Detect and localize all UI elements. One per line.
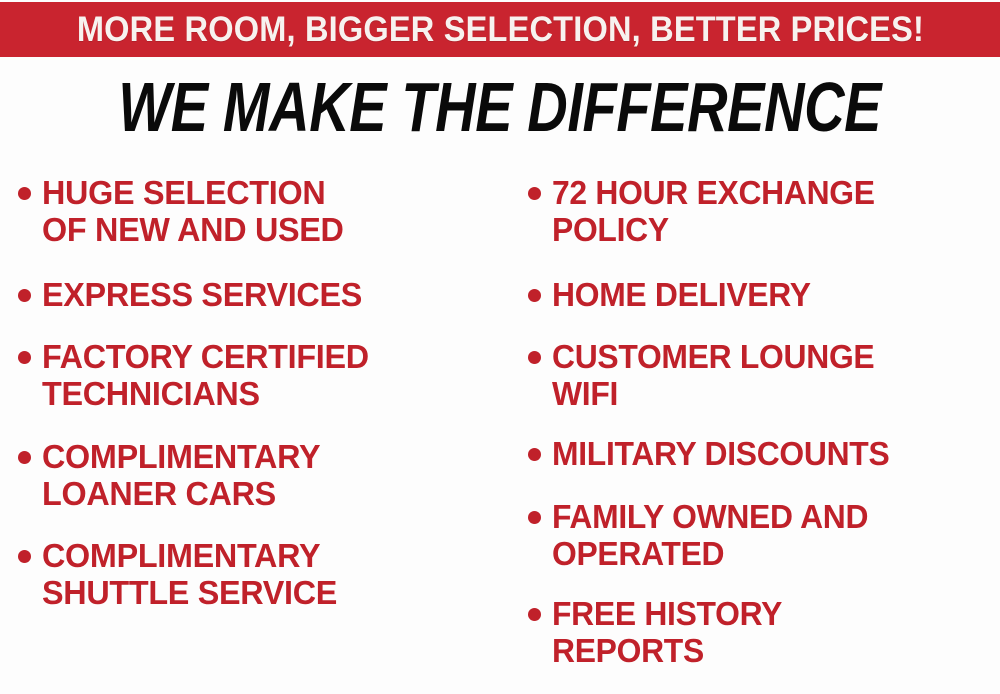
bullet-dot-icon <box>528 351 541 364</box>
bullet-dot-icon <box>18 451 31 464</box>
list-item: CUSTOMER LOUNGE WIFI <box>528 338 1000 412</box>
bullet-dot-icon <box>528 289 541 302</box>
list-item-label: FAMILY OWNED AND OPERATED <box>552 498 984 572</box>
list-item: 72 HOUR EXCHANGE POLICY <box>528 174 1000 248</box>
list-item-label: HUGE SELECTION OF NEW AND USED <box>42 174 501 248</box>
list-item: COMPLIMENTARY LOANER CARS <box>18 438 510 512</box>
list-item: FAMILY OWNED AND OPERATED <box>528 498 1000 572</box>
list-item-label: FREE HISTORY REPORTS <box>552 595 984 669</box>
list-item: HOME DELIVERY <box>528 276 1000 313</box>
list-item: COMPLIMENTARY SHUTTLE SERVICE <box>18 537 510 611</box>
list-item-label: COMPLIMENTARY LOANER CARS <box>42 438 501 512</box>
list-item-label: EXPRESS SERVICES <box>42 276 501 313</box>
list-item-label: CUSTOMER LOUNGE WIFI <box>552 338 984 412</box>
bullet-dot-icon <box>18 289 31 302</box>
benefits-columns: HUGE SELECTION OF NEW AND USED EXPRESS S… <box>0 160 1000 694</box>
banner-headline: MORE ROOM, BIGGER SELECTION, BETTER PRIC… <box>76 12 923 47</box>
list-item: HUGE SELECTION OF NEW AND USED <box>18 174 510 248</box>
list-item-label: FACTORY CERTIFIED TECHNICIANS <box>42 338 501 412</box>
list-item-label: HOME DELIVERY <box>552 276 984 313</box>
page-title: WE MAKE THE DIFFERENCE <box>0 72 1000 142</box>
benefits-column-left: HUGE SELECTION OF NEW AND USED EXPRESS S… <box>0 160 510 694</box>
page-title-text: WE MAKE THE DIFFERENCE <box>119 72 882 142</box>
list-item-label: 72 HOUR EXCHANGE POLICY <box>552 174 984 248</box>
bullet-dot-icon <box>528 448 541 461</box>
list-item: FACTORY CERTIFIED TECHNICIANS <box>18 338 510 412</box>
list-item-label: MILITARY DISCOUNTS <box>552 435 984 472</box>
bullet-dot-icon <box>528 187 541 200</box>
list-item: FREE HISTORY REPORTS <box>528 595 1000 669</box>
bullet-dot-icon <box>528 511 541 524</box>
benefits-column-right: 72 HOUR EXCHANGE POLICY HOME DELIVERY CU… <box>510 160 1000 694</box>
dealership-benefits-poster: MORE ROOM, BIGGER SELECTION, BETTER PRIC… <box>0 0 1000 694</box>
bullet-dot-icon <box>18 550 31 563</box>
bullet-dot-icon <box>18 351 31 364</box>
bullet-dot-icon <box>528 608 541 621</box>
bullet-dot-icon <box>18 187 31 200</box>
list-item: MILITARY DISCOUNTS <box>528 435 1000 472</box>
list-item-label: COMPLIMENTARY SHUTTLE SERVICE <box>42 537 501 611</box>
list-item: EXPRESS SERVICES <box>18 276 510 313</box>
top-banner: MORE ROOM, BIGGER SELECTION, BETTER PRIC… <box>0 2 1000 57</box>
